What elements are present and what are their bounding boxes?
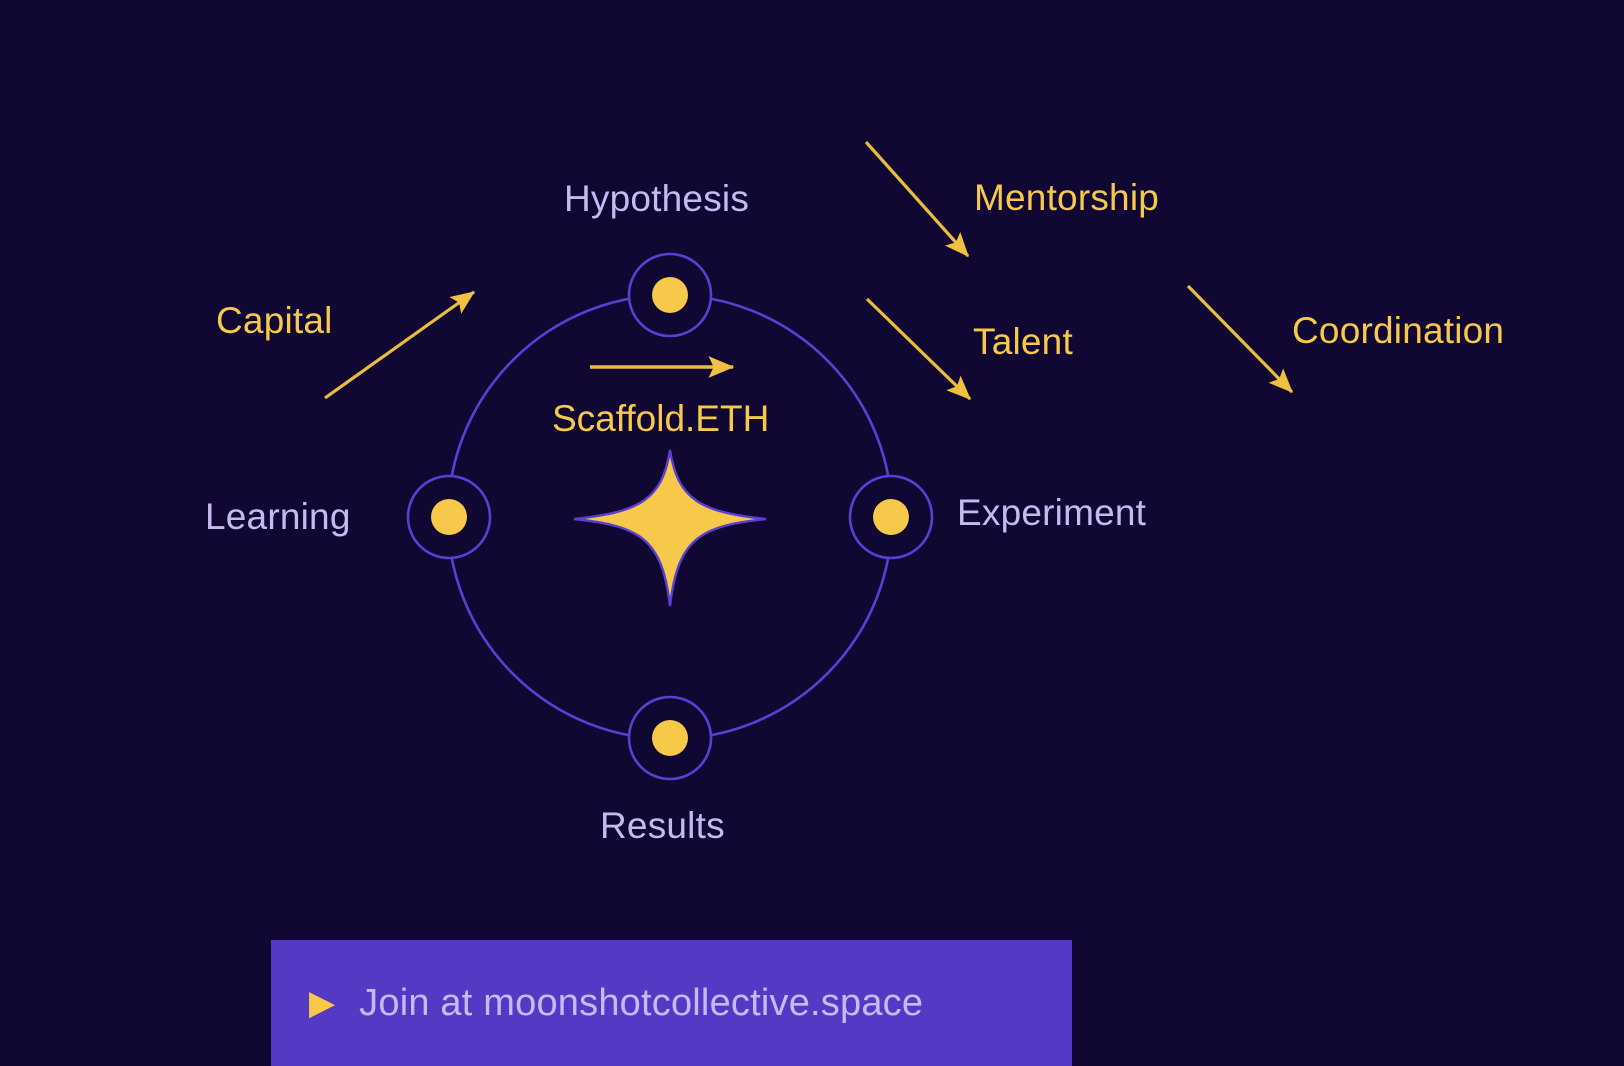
- flow-label-mentorship: Mentorship: [974, 177, 1159, 219]
- flow-label-capital: Capital: [216, 300, 333, 342]
- four-point-sparkle-icon: [574, 450, 766, 606]
- node-results[interactable]: [629, 697, 711, 779]
- node-hypothesis[interactable]: [629, 254, 711, 336]
- flow-label-coordination: Coordination: [1292, 310, 1504, 352]
- capital-arrow: [325, 292, 474, 398]
- node-label-experiment: Experiment: [957, 492, 1146, 534]
- cta-label: Join at moonshotcollective.space: [359, 982, 923, 1025]
- center-label-scaffold-eth: Scaffold.ETH: [552, 398, 769, 440]
- node-label-results: Results: [600, 805, 725, 847]
- play-triangle-icon: ▶: [309, 986, 335, 1020]
- node-experiment[interactable]: [850, 476, 932, 558]
- cta-banner[interactable]: ▶ Join at moonshotcollective.space: [271, 940, 1072, 1066]
- node-dot: [652, 277, 688, 313]
- node-dot: [652, 720, 688, 756]
- node-label-hypothesis: Hypothesis: [564, 178, 749, 220]
- coordination-arrow: [1188, 286, 1292, 392]
- node-dot: [873, 499, 909, 535]
- flow-label-talent: Talent: [973, 321, 1073, 363]
- node-dot: [431, 499, 467, 535]
- talent-arrow: [867, 299, 970, 399]
- diagram-canvas: Hypothesis Experiment Results Learning S…: [0, 0, 1624, 1066]
- node-label-learning: Learning: [205, 496, 351, 538]
- node-learning[interactable]: [408, 476, 490, 558]
- mentorship-arrow: [866, 142, 968, 256]
